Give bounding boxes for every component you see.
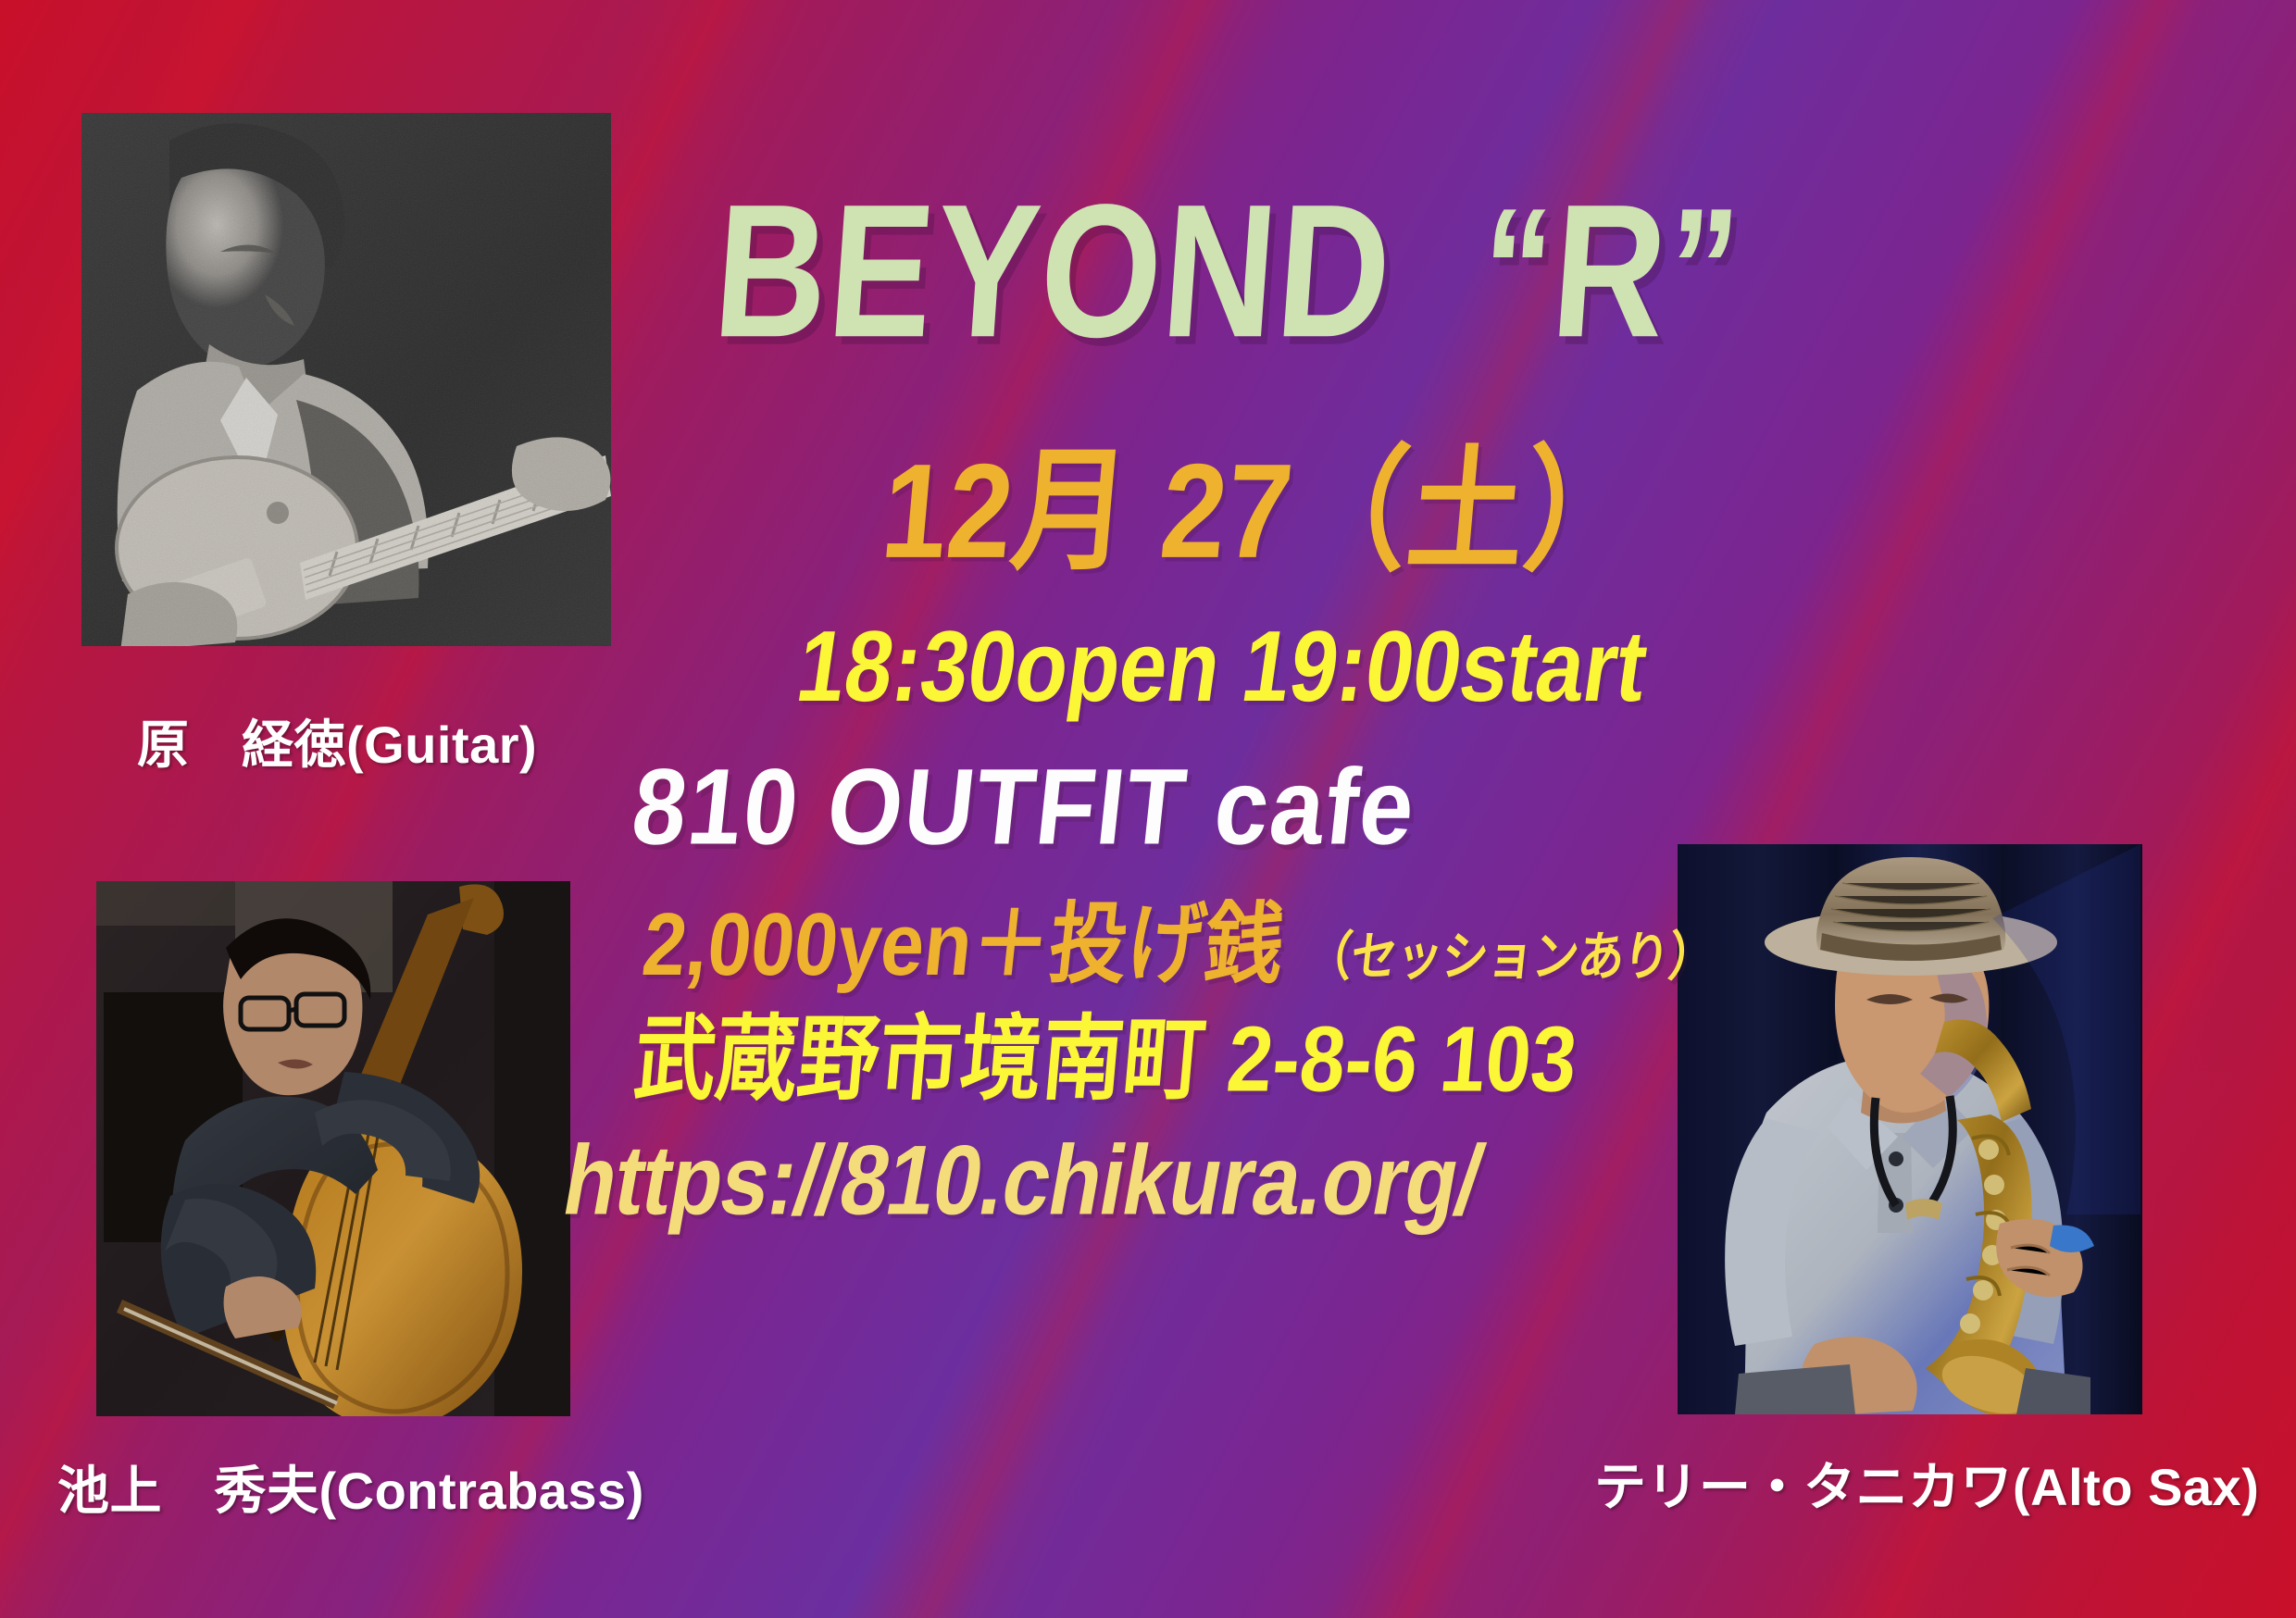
venue-name: 810 OUTFIT cafe	[628, 753, 2213, 861]
quote-close-glyph: ”	[1661, 172, 1745, 362]
contrabassist-photo	[96, 881, 570, 1416]
event-time: 18:30open 19:00start	[792, 616, 2213, 717]
event-info-block: BEYOND “R” 12月 27（土） 18:30open 19:00star…	[639, 176, 2213, 1216]
guitarist-photo	[81, 113, 611, 646]
ticket-price: 2,000yen＋投げ銭（セッションあり）	[639, 900, 2213, 989]
quote-open-glyph: “	[1476, 172, 1560, 362]
price-note: （セッションあり）	[1303, 927, 1717, 987]
title-letter-r: R	[1546, 165, 1675, 377]
price-amount: 2,000yen＋投げ銭	[638, 894, 1288, 993]
title-main-text: BEYOND	[708, 165, 1400, 377]
guitarist-caption: 原 経徳(Guitar)	[137, 703, 537, 778]
event-date: 12月 27（土）	[877, 444, 2213, 579]
poster-title: BEYOND “R”	[709, 176, 2213, 366]
venue-address: 武蔵野市境南町 2-8-6 103	[630, 1013, 2213, 1105]
saxophonist-caption: テリー・タニカワ(Alto Sax)	[1594, 1446, 2259, 1521]
concert-poster: 原 経徳(Guitar) 池上 秀夫(Contrabass) テリー・タニカワ(…	[0, 0, 2296, 1618]
venue-url[interactable]: https://810.chikura.org/	[556, 1131, 2213, 1230]
contrabassist-caption: 池上 秀夫(Contrabass)	[57, 1450, 644, 1525]
